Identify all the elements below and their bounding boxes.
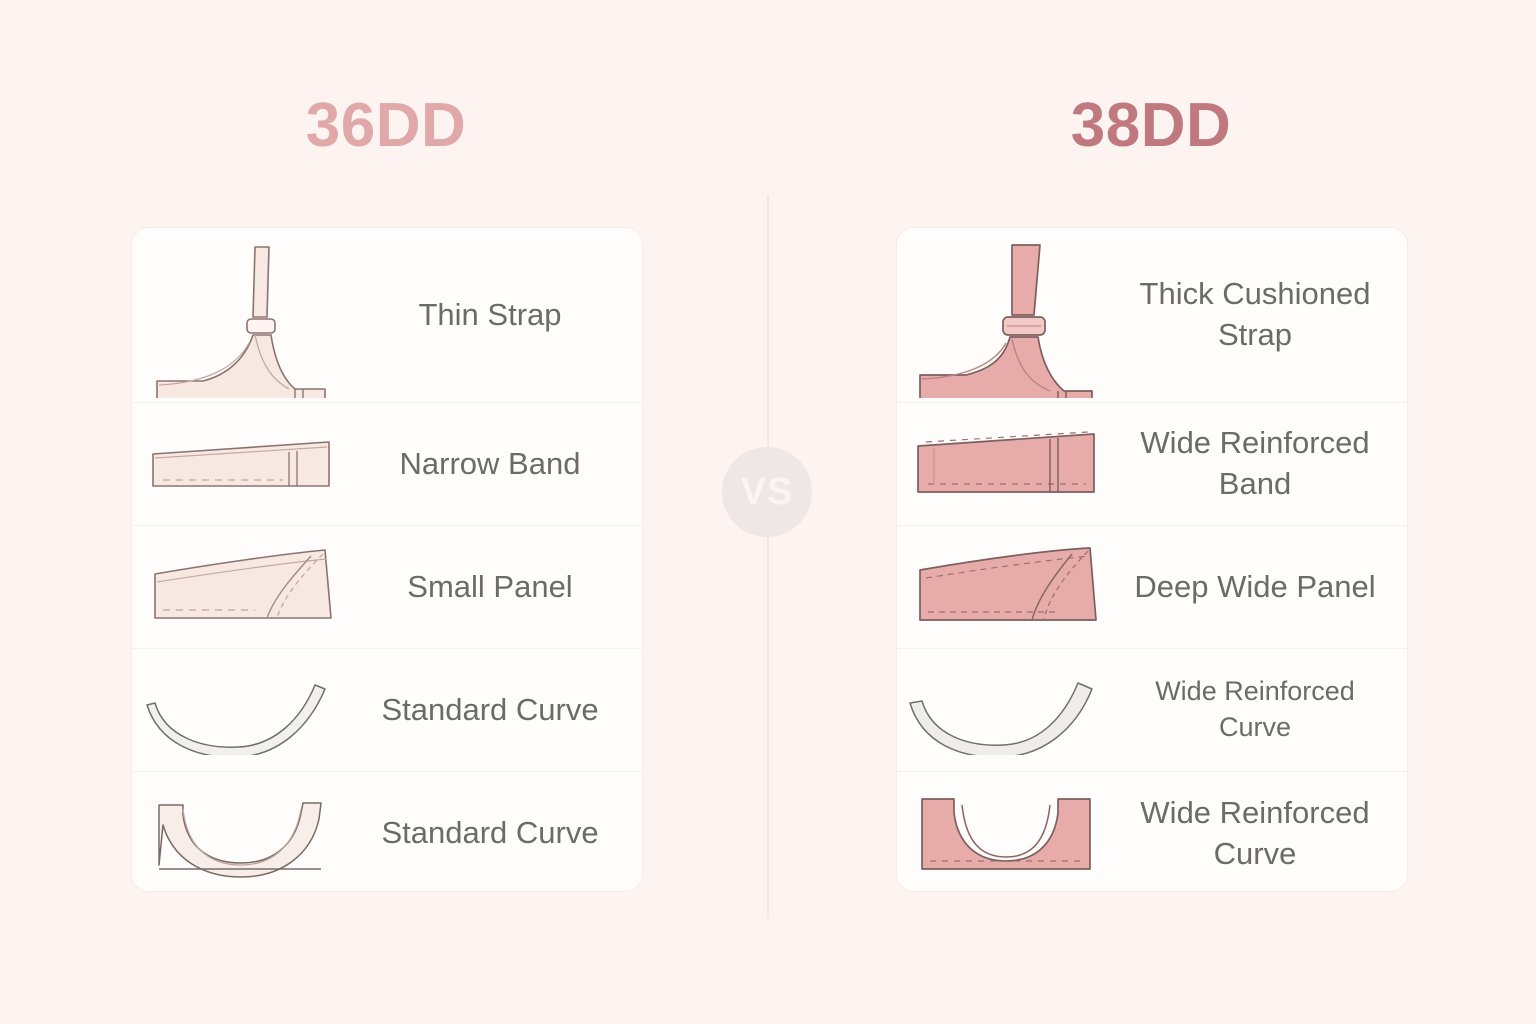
table-row: Small Panel (132, 526, 642, 649)
table-row: Standard Curve (132, 649, 642, 772)
band-narrow-icon (132, 403, 354, 525)
row-label: Narrow Band (354, 444, 642, 485)
row-label: Small Panel (354, 567, 642, 608)
row-label: Wide Reinforced Curve (1119, 674, 1407, 745)
bra-strap-thin-icon (132, 228, 354, 402)
row-label: Wide Reinforced Band (1119, 423, 1407, 505)
row-label: Deep Wide Panel (1119, 567, 1407, 608)
panel-small-icon (132, 526, 354, 648)
row-label: Standard Curve (354, 813, 642, 854)
right-column-title: 38DD (895, 95, 1407, 157)
center-divider (767, 195, 769, 918)
row-label: Thin Strap (354, 295, 642, 336)
bra-strap-thick-icon (897, 228, 1119, 402)
wire-standard-icon (132, 649, 354, 771)
left-comparison-card: Thin Strap Narrow Band (131, 227, 643, 892)
right-comparison-card: Thick Cushioned Strap Wide Reinforced Ba… (896, 227, 1408, 892)
row-label: Wide Reinforced Curve (1119, 793, 1407, 875)
table-row: Narrow Band (132, 403, 642, 526)
cradle-standard-icon (132, 772, 354, 892)
wire-wide-icon (897, 649, 1119, 771)
table-row: Thick Cushioned Strap (897, 228, 1407, 403)
row-label: Standard Curve (354, 690, 642, 731)
row-label: Thick Cushioned Strap (1119, 274, 1407, 356)
vs-badge: VS (722, 447, 812, 537)
panel-deep-icon (897, 526, 1119, 648)
table-row: Wide Reinforced Band (897, 403, 1407, 526)
table-row: Deep Wide Panel (897, 526, 1407, 649)
table-row: Wide Reinforced Curve (897, 649, 1407, 772)
table-row: Standard Curve (132, 772, 642, 892)
comparison-infographic: 36DD 38DD VS Thin (0, 0, 1536, 1024)
left-column-title: 36DD (130, 95, 642, 157)
table-row: Wide Reinforced Curve (897, 772, 1407, 892)
table-row: Thin Strap (132, 228, 642, 403)
band-wide-icon (897, 403, 1119, 525)
cradle-wide-icon (897, 772, 1119, 892)
